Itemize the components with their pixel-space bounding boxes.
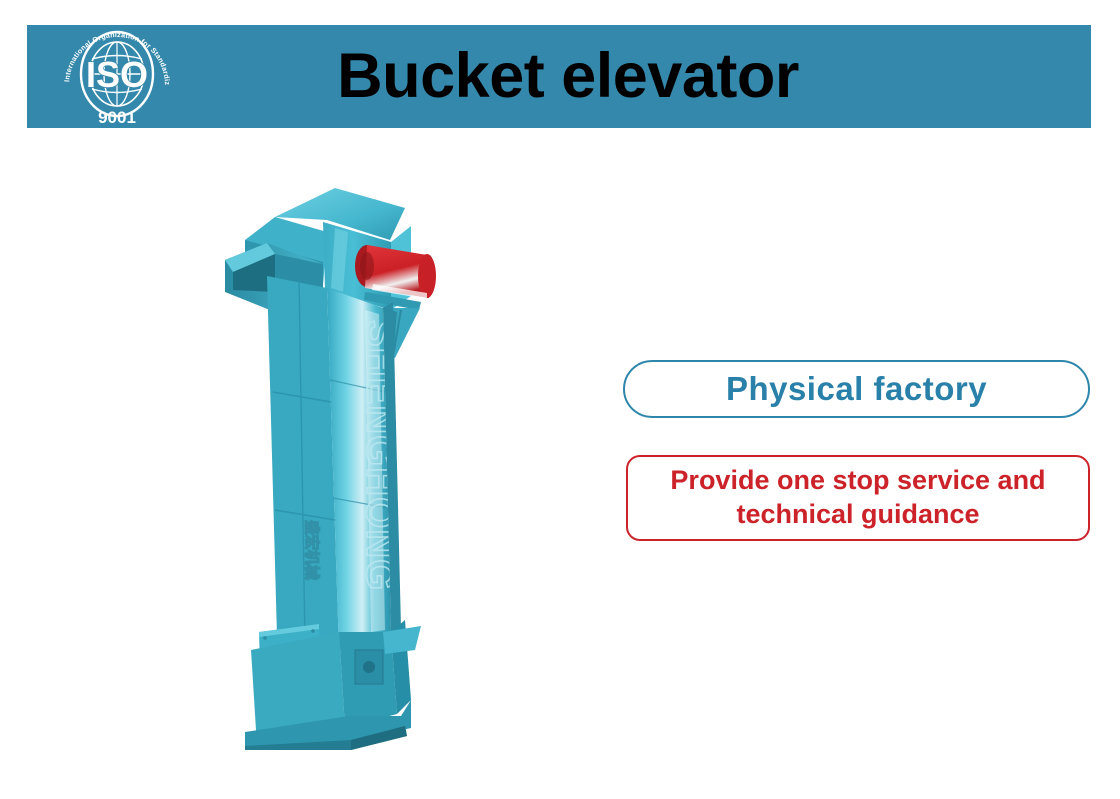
page-title: Bucket elevator bbox=[27, 25, 1091, 128]
chinese-characters: 盛宏机械 bbox=[303, 520, 321, 580]
service-callout: Provide one stop service and technical g… bbox=[626, 455, 1090, 541]
service-label: Provide one stop service and technical g… bbox=[660, 464, 1055, 532]
bucket-elevator-photo: SHENGHONG SHENGHONG 盛宏机械 bbox=[215, 180, 445, 750]
service-label-line2: technical guidance bbox=[736, 499, 979, 529]
svg-text:盛宏机械: 盛宏机械 bbox=[303, 520, 321, 580]
header-banner: International Organization for Standardi… bbox=[27, 25, 1091, 128]
physical-factory-label: Physical factory bbox=[726, 370, 987, 408]
service-label-line1: Provide one stop service and bbox=[670, 465, 1045, 495]
physical-factory-callout: Physical factory bbox=[623, 360, 1090, 418]
